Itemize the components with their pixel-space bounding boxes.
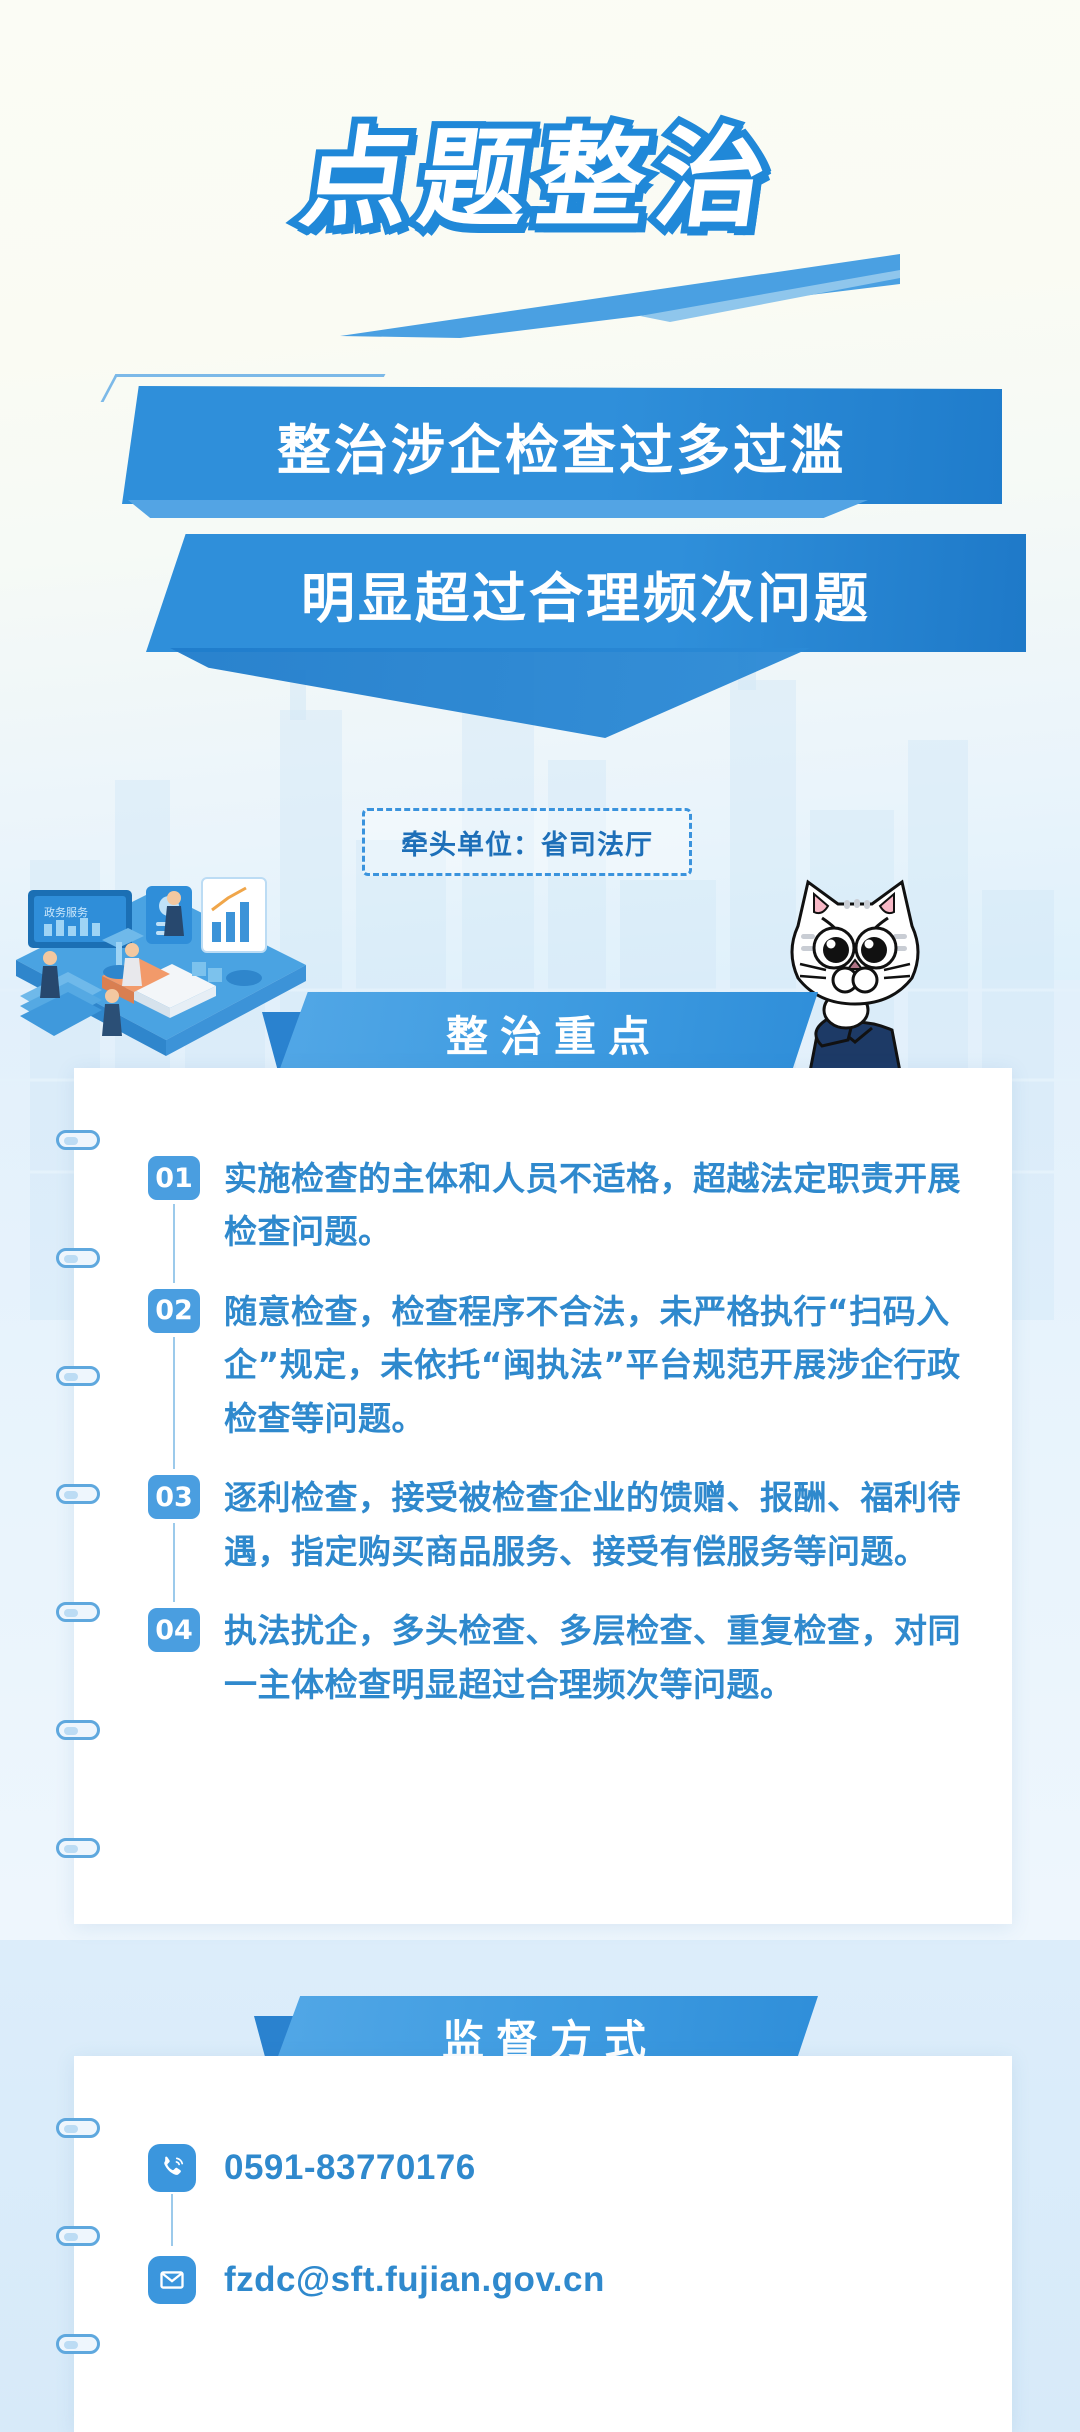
contact-row-phone: 0591-83770176 [148, 2112, 948, 2224]
list-item: 01 实施检查的主体和人员不适格，超越法定职责开展检查问题。 [148, 1152, 978, 1259]
card-punch-hole [56, 1838, 100, 1858]
card-punch-hole [56, 2334, 100, 2354]
list-item-number: 01 [148, 1156, 200, 1200]
list-connector-line [173, 1337, 175, 1469]
title-swoosh-decoration [340, 250, 900, 340]
subtitle-banner-2: 明显超过合理频次问题 [146, 534, 1026, 652]
contact-row-email: fzdc@sft.fujian.gov.cn [148, 2224, 948, 2336]
contact-email-value[interactable]: fzdc@sft.fujian.gov.cn [224, 2260, 605, 2300]
list-item-text: 执法扰企，多头检查、多层检查、重复检查，对同一主体检查明显超过合理频次等问题。 [224, 1604, 978, 1711]
contact-phone-value[interactable]: 0591-83770176 [224, 2148, 476, 2188]
focus-section-heading-text: 整治重点 [434, 1003, 662, 1064]
list-item: 02 随意检查，检查程序不合法，未严格执行“扫码入企”规定，未依托“闽执法”平台… [148, 1285, 978, 1445]
page-title: 点题整治 [293, 92, 787, 248]
card-punch-hole [56, 1720, 100, 1740]
svg-text:政务服务: 政务服务 [44, 905, 88, 919]
list-item: 03 逐利检查，接受被检查企业的馈赠、报酬、福利待遇，指定购买商品服务、接受有偿… [148, 1471, 978, 1578]
card-punch-hole [56, 2226, 100, 2246]
banner-1-lower-lip [128, 500, 868, 518]
card-punch-hole [56, 1366, 100, 1386]
phone-ringing-icon [148, 2144, 196, 2192]
banner-2-fold-shadow [170, 648, 810, 738]
list-item-text: 逐利检查，接受被检查企业的馈赠、报酬、福利待遇，指定购买商品服务、接受有偿服务等… [224, 1471, 978, 1578]
list-item-number: 03 [148, 1475, 200, 1519]
list-connector-line [173, 1523, 175, 1602]
card-punch-hole [56, 1602, 100, 1622]
lead-unit-box: 牵头单位：省司法厅 [362, 808, 692, 876]
list-item: 04 执法扰企，多头检查、多层检查、重复检查，对同一主体检查明显超过合理频次等问… [148, 1604, 978, 1711]
list-item-text: 随意检查，检查程序不合法，未严格执行“扫码入企”规定，未依托“闽执法”平台规范开… [224, 1285, 978, 1445]
lead-unit-label: 牵头单位：省司法厅 [401, 823, 653, 862]
envelope-icon [148, 2256, 196, 2304]
list-item-number: 02 [148, 1289, 200, 1333]
subtitle-banner-2-text: 明显超过合理频次问题 [301, 554, 871, 633]
supervision-contacts: 0591-83770176 fzdc@sft.fujian.gov.cn [148, 2112, 948, 2336]
list-item-number: 04 [148, 1608, 200, 1652]
list-item-text: 实施检查的主体和人员不适格，超越法定职责开展检查问题。 [224, 1152, 978, 1259]
subtitle-banner-1: 整治涉企检查过多过滥 [122, 386, 1002, 504]
list-connector-line [173, 1204, 175, 1283]
subtitle-banner-1-text: 整治涉企检查过多过滥 [277, 406, 847, 485]
focus-items-list: 01 实施检查的主体和人员不适格，超越法定职责开展检查问题。 02 随意检查，检… [148, 1152, 978, 1737]
card-punch-hole [56, 1484, 100, 1504]
poster-title-wrapper: 点题整治 [0, 92, 1080, 248]
card-punch-hole [56, 1248, 100, 1268]
card-punch-hole [56, 2118, 100, 2138]
focus-section-heading: 整治重点 [278, 992, 818, 1074]
card-punch-hole [56, 1130, 100, 1150]
